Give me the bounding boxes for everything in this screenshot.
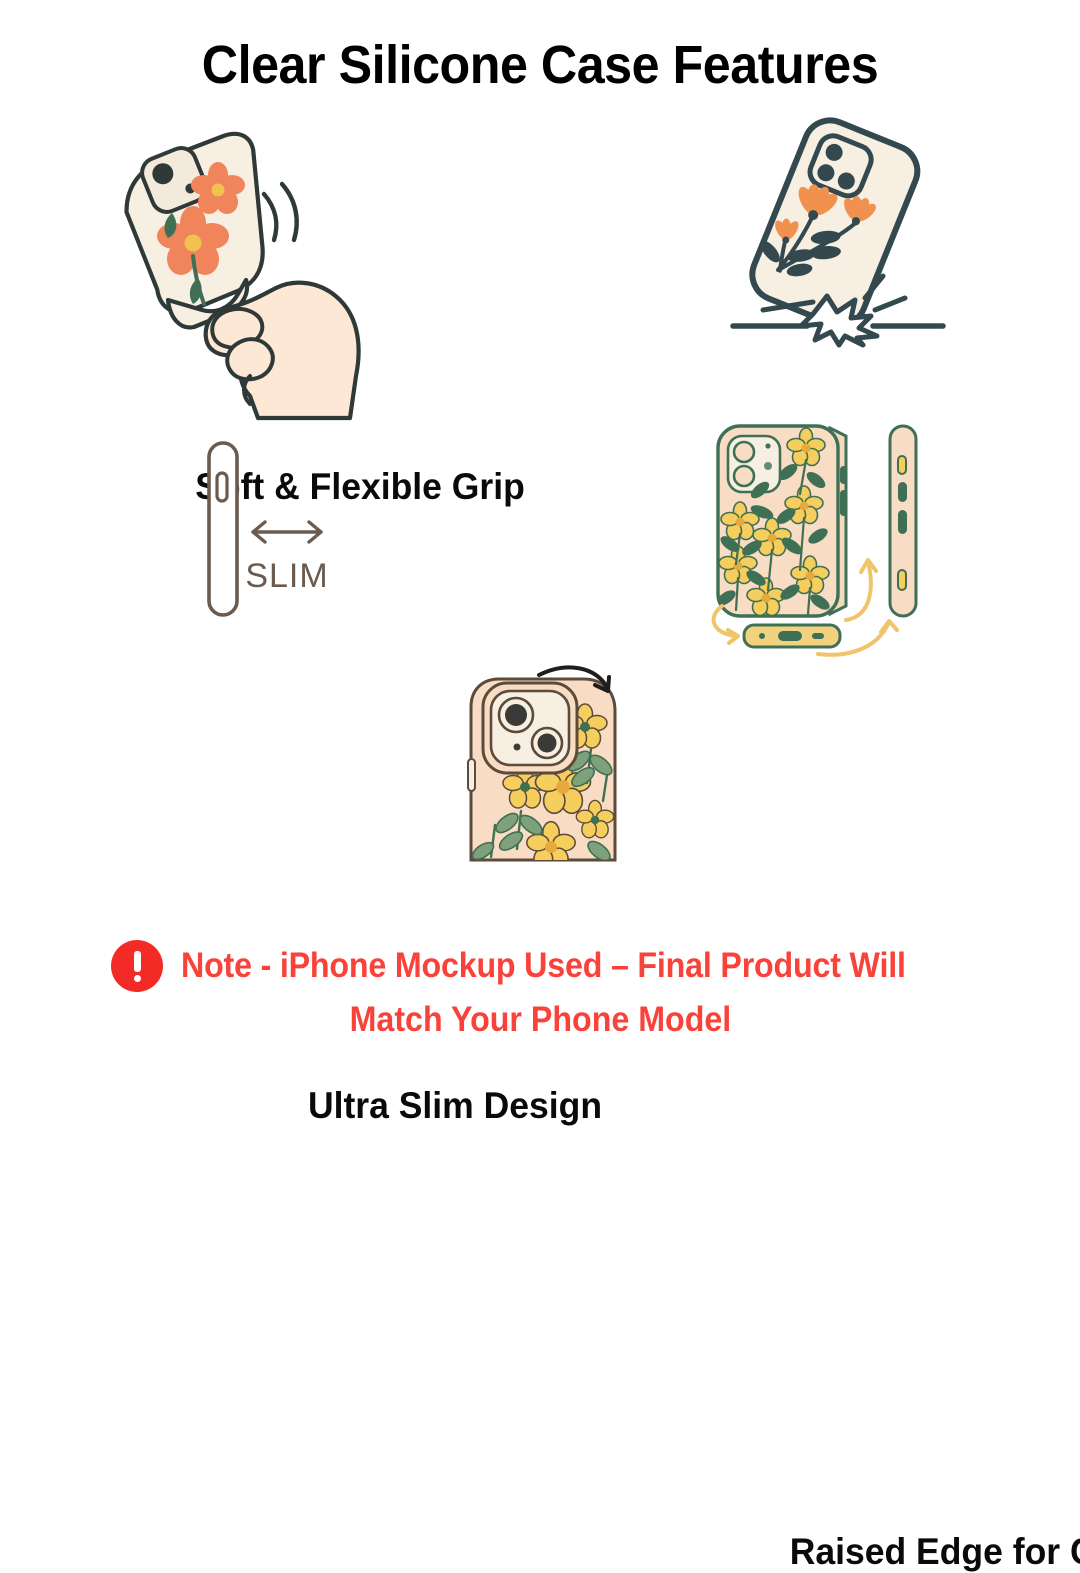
exclamation-bar: [134, 951, 141, 972]
phone-side-profile-thickness-icon: SLIM: [195, 435, 365, 625]
feature-shock-absorbent: Shock Absorbent: [715, 120, 955, 345]
feature-infographic: Clear Silicone Case Features: [0, 0, 1080, 1080]
feature-label-raised-edge-for-camera: Raised Edge for Camera: [741, 1531, 1080, 1573]
note-block: Note - iPhone Mockup Used – Final Produc…: [0, 940, 1080, 1040]
feature-label-ultra-slim-design: Ultra Slim Design: [244, 1085, 666, 1127]
page-title: Clear Silicone Case Features: [38, 34, 1042, 96]
slim-callout-label: SLIM: [245, 557, 328, 595]
phone-drop-impact-icon: [715, 120, 955, 345]
exclamation-dot: [134, 975, 141, 982]
feature-all-ports-accessible: All Ports Accessible: [700, 420, 945, 655]
note-first-line: Note - iPhone Mockup Used – Final Produc…: [111, 940, 969, 992]
note-text-line1: Note - iPhone Mockup Used – Final Produc…: [181, 946, 906, 986]
note-text-line2: Match Your Phone Model: [349, 1000, 731, 1040]
feature-raised-edge-for-camera: Raised Edge for Camera: [455, 665, 665, 860]
raised-camera-edge-icon: [455, 665, 665, 860]
hand-holding-flexing-phone-case-icon: [100, 118, 420, 418]
feature-ultra-slim-design: SLIM Ultra Slim Design: [195, 435, 365, 625]
feature-soft-flexible-grip: Soft & Flexible Grip: [100, 118, 420, 418]
alert-exclamation-icon: [111, 940, 163, 992]
phone-ports-cutouts-icon: [700, 420, 945, 655]
